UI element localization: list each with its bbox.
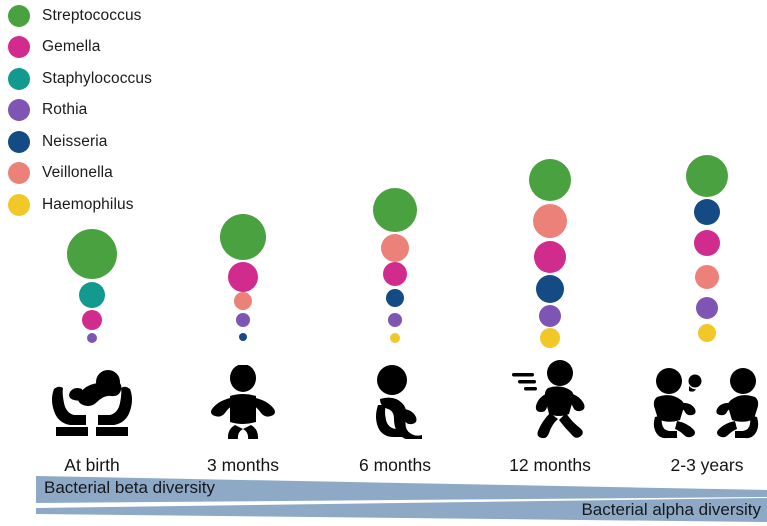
bacterial-diversity-figure: Streptococcus Gemella Staphylococcus Rot… <box>0 0 767 526</box>
bubble-haemophilus <box>540 328 560 348</box>
stage-column-2-3-years: 2-3 years <box>632 0 767 526</box>
bubble-neisseria <box>694 199 720 225</box>
newborn-in-hands-icon <box>46 367 138 444</box>
bubble-streptococcus <box>373 188 417 232</box>
bubble-rothia <box>696 297 718 319</box>
bubble-stack <box>475 0 625 360</box>
bubble-stack <box>632 0 767 360</box>
diversity-gradient-bands: Bacterial beta diversity Bacterial alpha… <box>0 470 767 526</box>
bubble-veillonella <box>695 265 719 289</box>
bubble-stack <box>17 0 167 360</box>
stage-column-3-months: 3 months <box>168 0 318 526</box>
bubble-rothia <box>87 333 97 343</box>
bubble-stack <box>320 0 470 360</box>
bubble-haemophilus <box>698 324 716 342</box>
bubble-gemella <box>82 310 102 330</box>
bubble-neisseria <box>239 333 247 341</box>
supine-baby-icon <box>208 365 278 444</box>
bubble-staphylococcus <box>79 282 105 308</box>
bubble-gemella <box>383 262 407 286</box>
bubble-gemella <box>694 230 720 256</box>
bubble-streptococcus <box>529 159 571 201</box>
stage-column-6-months: 6 months <box>320 0 470 526</box>
walking-toddler-icon <box>508 359 592 444</box>
bubble-stack <box>168 0 318 360</box>
alpha-diversity-label: Bacterial alpha diversity <box>581 500 761 520</box>
bubble-streptococcus <box>220 214 266 260</box>
two-children-playing-icon <box>647 365 767 444</box>
stage-column-12-months: 12 months <box>475 0 625 526</box>
bubble-rothia <box>236 313 250 327</box>
beta-diversity-label: Bacterial beta diversity <box>44 478 215 498</box>
bubble-rothia <box>388 313 402 327</box>
bubble-streptococcus <box>67 229 117 279</box>
bubble-neisseria <box>386 289 404 307</box>
bubble-veillonella <box>234 292 252 310</box>
bubble-veillonella <box>381 234 409 262</box>
bubble-gemella <box>534 241 566 273</box>
bubble-neisseria <box>536 275 564 303</box>
bubble-streptococcus <box>686 155 728 197</box>
bubble-veillonella <box>533 204 567 238</box>
bubble-gemella <box>228 262 258 292</box>
bubble-rothia <box>539 305 561 327</box>
sitting-baby-icon <box>364 365 426 444</box>
stage-column-at-birth: At birth <box>17 0 167 526</box>
bubble-haemophilus <box>390 333 400 343</box>
